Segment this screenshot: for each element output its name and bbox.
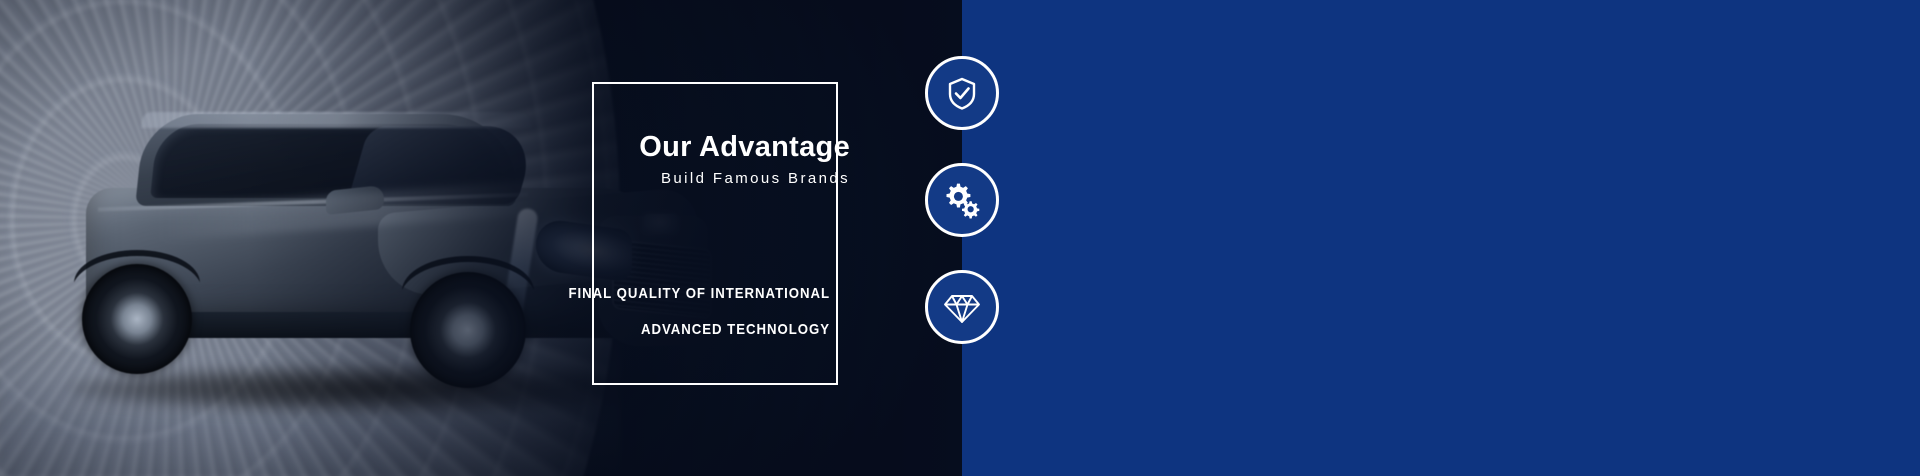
advantage-outline-box <box>592 82 838 385</box>
caption-line-2: ADVANCED TECHNOLOGY <box>469 322 830 337</box>
advantage-banner: Our Advantage Build Famous Brands FINAL … <box>0 0 1920 476</box>
gears-icon[interactable] <box>925 163 999 237</box>
advantage-caption: FINAL QUALITY OF INTERNATIONAL ADVANCED … <box>420 286 840 337</box>
diamond-icon[interactable] <box>925 270 999 344</box>
shield-check-icon[interactable] <box>925 56 999 130</box>
advantage-heading-group: Our Advantage Build Famous Brands <box>560 132 860 187</box>
blue-panel <box>962 0 1920 476</box>
feature-icon-column <box>925 0 1001 476</box>
caption-line-1: FINAL QUALITY OF INTERNATIONAL <box>469 286 830 301</box>
page-title: Our Advantage <box>560 132 850 164</box>
page-subtitle: Build Famous Brands <box>560 171 850 188</box>
